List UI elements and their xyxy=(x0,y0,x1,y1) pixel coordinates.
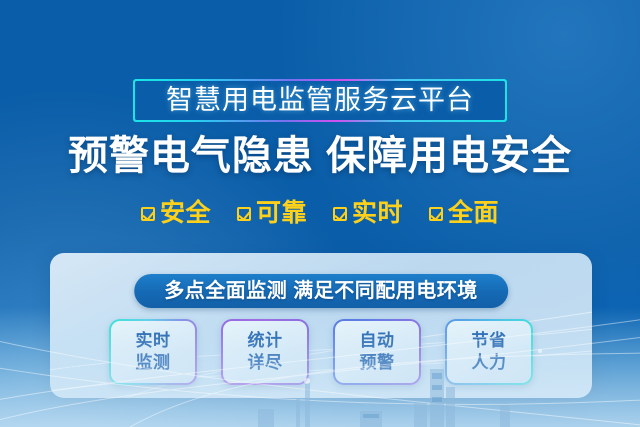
platform-title-box-inner: 智慧用电监管服务云平台 xyxy=(135,81,505,120)
feature-card-inner: 自动 预警 xyxy=(335,321,419,383)
checkbox-checked-icon xyxy=(237,207,251,221)
feature-card-inner: 实时 监测 xyxy=(111,321,195,383)
feature-card-inner: 统计 详尽 xyxy=(223,321,307,383)
feature-card-inner: 节省 人力 xyxy=(447,321,531,383)
checklist-item-label: 全面 xyxy=(448,201,499,226)
feature-card-line1: 节省 xyxy=(472,331,507,351)
main-headline: 预警电气隐患 保障用电安全 xyxy=(0,136,640,176)
checklist-item: 实时 xyxy=(333,201,403,226)
feature-panel: 多点全面监测 满足不同配用电环境 实时 监测 统计 详尽 自动 预警 xyxy=(50,253,592,398)
checklist-item-label: 安全 xyxy=(160,201,211,226)
feature-card-line1: 统计 xyxy=(248,331,283,351)
checkbox-checked-icon xyxy=(333,207,347,221)
feature-card-automatic-alarm[interactable]: 自动 预警 xyxy=(333,319,421,385)
feature-card-detailed-statistics[interactable]: 统计 详尽 xyxy=(221,319,309,385)
feature-card-line2: 监测 xyxy=(136,353,171,373)
checklist-item-label: 实时 xyxy=(352,201,403,226)
checklist-item: 安全 xyxy=(141,201,211,226)
feature-card-line2: 人力 xyxy=(472,353,507,373)
feature-card-line1: 自动 xyxy=(360,331,395,351)
checkbox-checked-icon xyxy=(429,207,443,221)
panel-headline-text: 多点全面监测 满足不同配用电环境 xyxy=(164,281,478,301)
checklist-item: 可靠 xyxy=(237,201,307,226)
feature-card-list: 实时 监测 统计 详尽 自动 预警 节省 人力 xyxy=(50,319,592,385)
poster-canvas: 智慧用电监管服务云平台 预警电气隐患 保障用电安全 安全 可靠 实时 全面 xyxy=(0,0,640,427)
feature-checklist: 安全 可靠 实时 全面 xyxy=(0,201,640,226)
platform-title-text: 智慧用电监管服务云平台 xyxy=(166,87,474,114)
feature-card-line1: 实时 xyxy=(136,331,171,351)
checklist-item-label: 可靠 xyxy=(256,201,307,226)
feature-card-line2: 预警 xyxy=(360,353,395,373)
feature-card-line2: 详尽 xyxy=(248,353,283,373)
feature-card-realtime-monitoring[interactable]: 实时 监测 xyxy=(109,319,197,385)
checklist-item: 全面 xyxy=(429,201,499,226)
checkbox-checked-icon xyxy=(141,207,155,221)
feature-card-save-manpower[interactable]: 节省 人力 xyxy=(445,319,533,385)
platform-title-box: 智慧用电监管服务云平台 xyxy=(133,79,507,122)
panel-headline-pill: 多点全面监测 满足不同配用电环境 xyxy=(134,274,508,308)
